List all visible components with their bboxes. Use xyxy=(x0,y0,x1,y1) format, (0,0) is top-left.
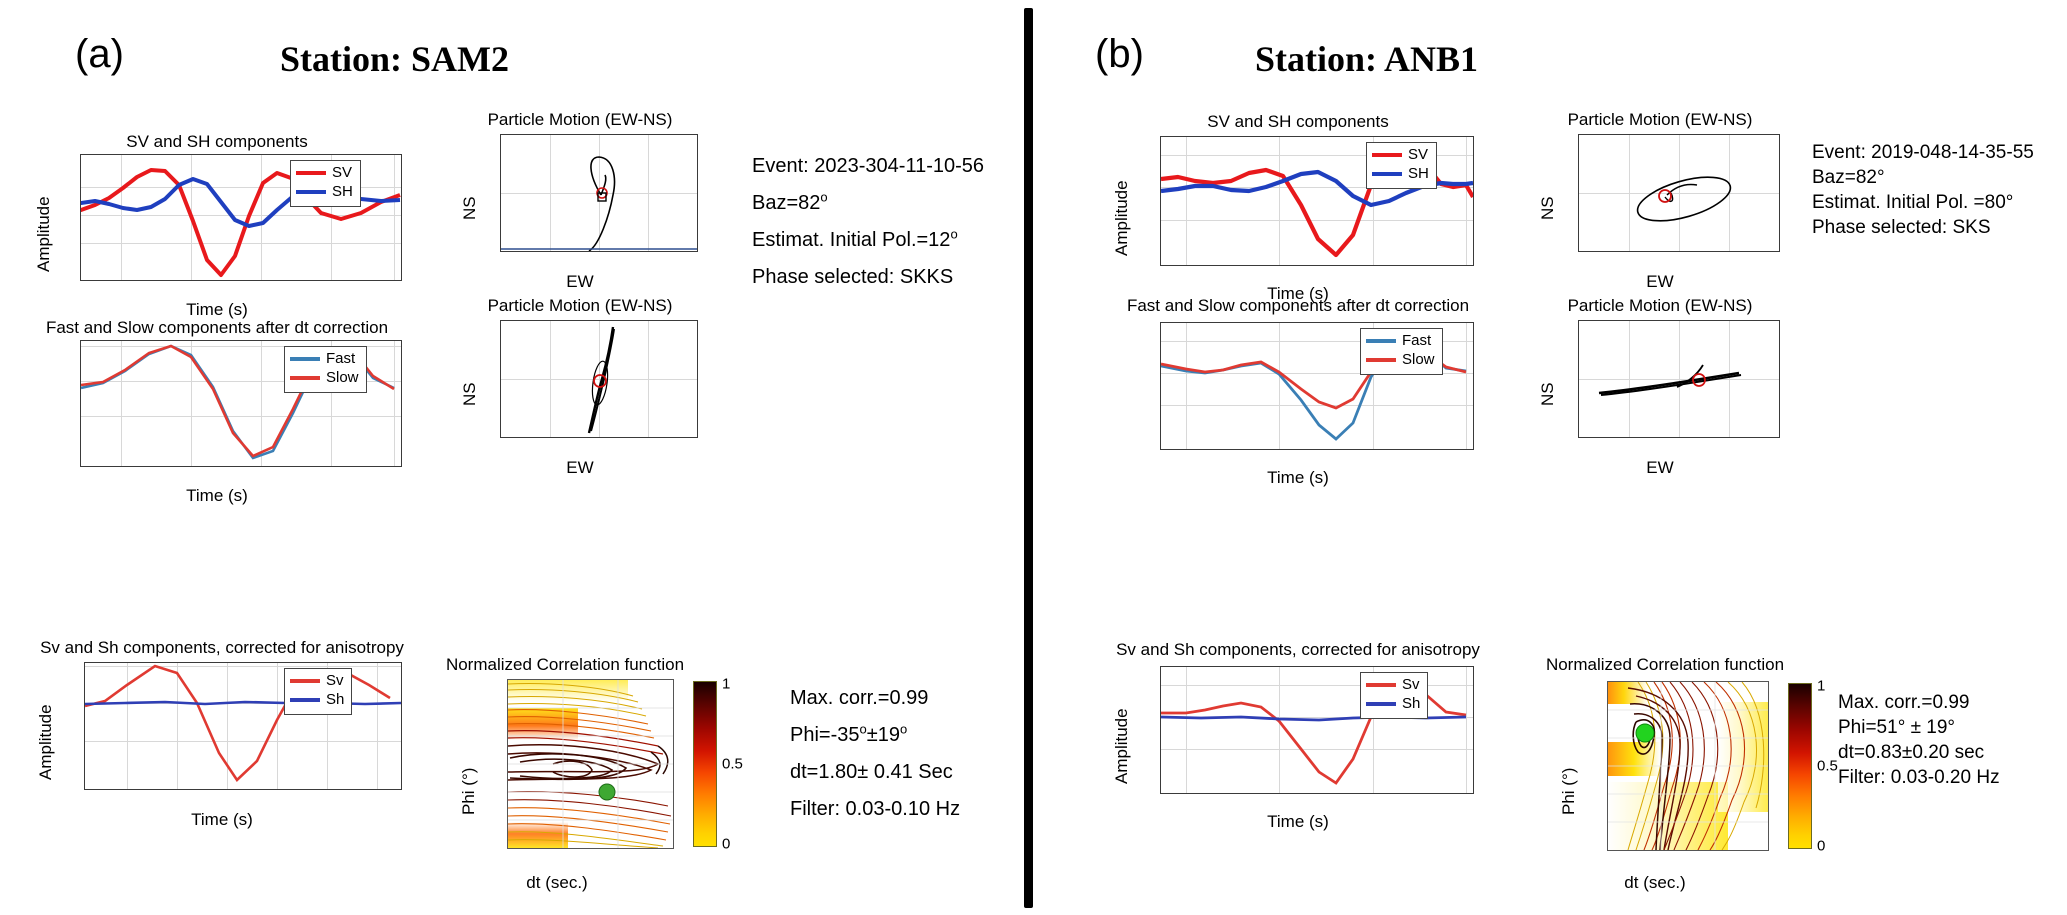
a-corr-contours xyxy=(508,680,673,848)
a-sv-sh-legend: SV SH xyxy=(290,160,361,207)
a-info-event: Event: 2023-304-11-10-56 xyxy=(752,148,984,185)
a-colorbar: 1 0.5 0 xyxy=(693,681,717,847)
a-fast-slow-subplot: Fast and Slow components after dt correc… xyxy=(22,318,412,493)
a-particle-motion-2: Particle Motion (EW-NS) 1 0 -1 -1 0 1 EW… xyxy=(440,296,720,481)
a-result-maxcorr: Max. corr.=0.99 xyxy=(790,680,960,717)
a-corr-xlabel: dt (sec.) xyxy=(407,873,707,893)
b-info-baz: Baz=82° xyxy=(1812,165,2034,190)
b-corrected-ylabel: Amplitude xyxy=(1112,708,1132,784)
legend-swatch-fast xyxy=(290,357,320,361)
b-sv-sh-legend: SV SH xyxy=(1366,142,1437,189)
a-corr-axes: 90 60 30 0 -30 -60 -90 0 2 3 xyxy=(507,679,674,849)
legend-label-sh: SH xyxy=(332,183,353,202)
b-particle-motion-2: Particle Motion (EW-NS) 1 0 -1 -1 0 1 EW… xyxy=(1520,296,1800,481)
a-result-dt: dt=1.80± 0.41 Sec xyxy=(790,754,960,791)
b-colorbar: 1 0.5 0 xyxy=(1788,683,1812,849)
a-correlation-subplot: Normalized Correlation function xyxy=(445,655,765,895)
panel-a-station-title: Station: SAM2 xyxy=(280,38,509,80)
b-result-maxcorr: Max. corr.=0.99 xyxy=(1838,690,2000,715)
a-corr-ylabel: Phi (°) xyxy=(459,768,479,815)
legend-label-sv-corrected: Sv xyxy=(1402,676,1420,695)
b-pm2-xlabel: EW xyxy=(1520,458,1800,478)
a-corrected-axes: 0.5 0 -0.5 -1 1655 1660 1665 1670 1675 1… xyxy=(84,662,402,790)
legend-label-slow: Slow xyxy=(326,369,359,388)
b-fast-slow-xlabel: Time (s) xyxy=(1098,468,1498,488)
a-corr-peak-marker xyxy=(599,784,616,801)
b-pm2-ylabel: NS xyxy=(1538,382,1558,406)
a-results-info: Max. corr.=0.99 Phi=-35o±19o dt=1.80± 0.… xyxy=(790,680,960,828)
a-pm1-xlabel: EW xyxy=(440,272,720,292)
b-pm1-title: Particle Motion (EW-NS) xyxy=(1520,110,1800,130)
b-fast-slow-subplot: Fast and Slow components after dt correc… xyxy=(1098,296,1498,476)
legend-label-sh-corrected: Sh xyxy=(1402,695,1420,714)
a-pm2-axes: 1 0 -1 -1 0 1 xyxy=(500,320,698,438)
a-corrected-xlabel: Time (s) xyxy=(22,810,422,830)
legend-swatch-sh xyxy=(296,190,326,194)
panel-b-station-title: Station: ANB1 xyxy=(1255,38,1478,80)
b-info-event: Event: 2019-048-14-35-55 xyxy=(1812,140,2034,165)
legend-swatch-sv-corrected xyxy=(290,679,320,683)
a-corrected-traces xyxy=(85,663,401,789)
a-fast-slow-xlabel: Time (s) xyxy=(22,486,412,506)
b-corrected-subplot: Sv and Sh components, corrected for anis… xyxy=(1098,640,1498,820)
b-fast-slow-title: Fast and Slow components after dt correc… xyxy=(1098,296,1498,316)
legend-label-slow: Slow xyxy=(1402,351,1435,370)
b-result-phi: Phi=51° ± 19° xyxy=(1838,715,2000,740)
a-pm1-title: Particle Motion (EW-NS) xyxy=(440,110,720,130)
b-pm1-ylabel: NS xyxy=(1538,196,1558,220)
a-pm2-ylabel: NS xyxy=(460,382,480,406)
legend-swatch-sh-corrected xyxy=(1366,702,1396,706)
b-pm2-curve xyxy=(1579,321,1779,437)
a-cbar-tick-0: 1 xyxy=(722,676,730,693)
b-sv-sh-ylabel: Amplitude xyxy=(1112,180,1132,256)
a-corrected-legend: Sv Sh xyxy=(284,668,352,715)
b-result-dt: dt=0.83±0.20 sec xyxy=(1838,740,2000,765)
b-cbar-tick-1: 0.5 xyxy=(1817,758,1838,775)
a-cbar-tick-1: 0.5 xyxy=(722,756,743,773)
a-pm2-xlabel: EW xyxy=(440,458,720,478)
b-pm1-xlabel: EW xyxy=(1520,272,1800,292)
legend-swatch-sv xyxy=(1372,153,1402,157)
b-corrected-xlabel: Time (s) xyxy=(1098,812,1498,832)
b-corrected-title: Sv and Sh components, corrected for anis… xyxy=(1098,640,1498,660)
legend-label-sv-corrected: Sv xyxy=(326,672,344,691)
b-pm2-axes: 1 0 -1 -1 0 1 xyxy=(1578,320,1780,438)
a-pm1-curve xyxy=(501,135,697,251)
b-corrected-legend: Sv Sh xyxy=(1360,672,1428,719)
b-info-initial-pol: Estimat. Initial Pol. =80° xyxy=(1812,190,2034,215)
a-particle-motion-1: Particle Motion (EW-NS) 1 0 -1 -1 0 1 EW… xyxy=(440,110,720,295)
b-corr-peak-marker xyxy=(1636,724,1655,743)
a-sv-sh-ylabel: Amplitude xyxy=(34,196,54,272)
legend-swatch-slow xyxy=(1366,358,1396,362)
a-cbar-tick-2: 0 xyxy=(722,836,730,853)
b-event-info: Event: 2019-048-14-35-55 Baz=82° Estimat… xyxy=(1812,140,2034,240)
b-result-filter: Filter: 0.03-0.20 Hz xyxy=(1838,765,2000,790)
legend-label-fast: Fast xyxy=(326,350,355,369)
a-result-filter: Filter: 0.03-0.10 Hz xyxy=(790,791,960,828)
a-info-baz: Baz=82o xyxy=(752,185,984,222)
b-info-phase: Phase selected: SKS xyxy=(1812,215,2034,240)
a-pm2-curve xyxy=(501,321,697,437)
a-fast-slow-title: Fast and Slow components after dt correc… xyxy=(22,318,412,338)
a-info-phase: Phase selected: SKKS xyxy=(752,259,984,296)
a-sv-sh-subplot: SV and SH components 0.5 0 -0.5 -1 1480 … xyxy=(22,132,412,307)
a-corrected-title: Sv and Sh components, corrected for anis… xyxy=(22,638,422,658)
legend-swatch-sv xyxy=(296,171,326,175)
a-sv-sh-title: SV and SH components xyxy=(22,132,412,152)
panel-b-letter: (b) xyxy=(1095,32,1144,77)
legend-label-sv: SV xyxy=(1408,146,1428,165)
legend-label-sh: SH xyxy=(1408,165,1429,184)
a-pm2-title: Particle Motion (EW-NS) xyxy=(440,296,720,316)
b-results-info: Max. corr.=0.99 Phi=51° ± 19° dt=0.83±0.… xyxy=(1838,690,2000,790)
b-particle-motion-1: Particle Motion (EW-NS) 1 0 -1 -1 0 1 EW… xyxy=(1520,110,1800,295)
b-sv-sh-subplot: SV and SH components 0.5 0 -0.5 -1 1415 … xyxy=(1098,112,1498,292)
b-cbar-tick-0: 1 xyxy=(1817,678,1825,695)
b-corr-xlabel: dt (sec.) xyxy=(1505,873,1805,893)
b-pm1-curve xyxy=(1579,135,1779,251)
a-event-info: Event: 2023-304-11-10-56 Baz=82o Estimat… xyxy=(752,148,984,296)
a-corrected-subplot: Sv and Sh components, corrected for anis… xyxy=(22,638,422,818)
b-corr-ylabel: Phi (°) xyxy=(1559,768,1579,815)
b-pm1-axes: 1 0 -1 -1 0 1 xyxy=(1578,134,1780,252)
b-corr-contours xyxy=(1608,682,1768,850)
legend-label-fast: Fast xyxy=(1402,332,1431,351)
a-corr-title: Normalized Correlation function xyxy=(420,655,710,675)
a-corrected-ylabel: Amplitude xyxy=(36,704,56,780)
b-corr-title: Normalized Correlation function xyxy=(1520,655,1810,675)
legend-swatch-sh-corrected xyxy=(290,698,320,702)
legend-swatch-fast xyxy=(1366,339,1396,343)
b-fast-slow-legend: Fast Slow xyxy=(1360,328,1443,375)
a-info-initial-pol: Estimat. Initial Pol.=12o xyxy=(752,222,984,259)
a-pm1-ylabel: NS xyxy=(460,196,480,220)
b-pm2-title: Particle Motion (EW-NS) xyxy=(1520,296,1800,316)
b-correlation-subplot: Normalized Correlation function xyxy=(1545,655,1865,895)
legend-label-sh-corrected: Sh xyxy=(326,691,344,710)
panel-a-letter: (a) xyxy=(75,32,124,77)
legend-swatch-sh xyxy=(1372,172,1402,176)
a-pm1-axes: 1 0 -1 -1 0 1 xyxy=(500,134,698,252)
a-result-phi: Phi=-35o±19o xyxy=(790,717,960,754)
a-fast-slow-legend: Fast Slow xyxy=(284,346,367,393)
b-corr-axes: 90 60 30 0 -30 -60 -90 0 2 3 xyxy=(1607,681,1769,851)
a-sv-sh-xlabel: Time (s) xyxy=(22,300,412,320)
legend-label-sv: SV xyxy=(332,164,352,183)
b-sv-sh-title: SV and SH components xyxy=(1098,112,1498,132)
b-cbar-tick-2: 0 xyxy=(1817,838,1825,855)
legend-swatch-slow xyxy=(290,376,320,380)
legend-swatch-sv-corrected xyxy=(1366,683,1396,687)
